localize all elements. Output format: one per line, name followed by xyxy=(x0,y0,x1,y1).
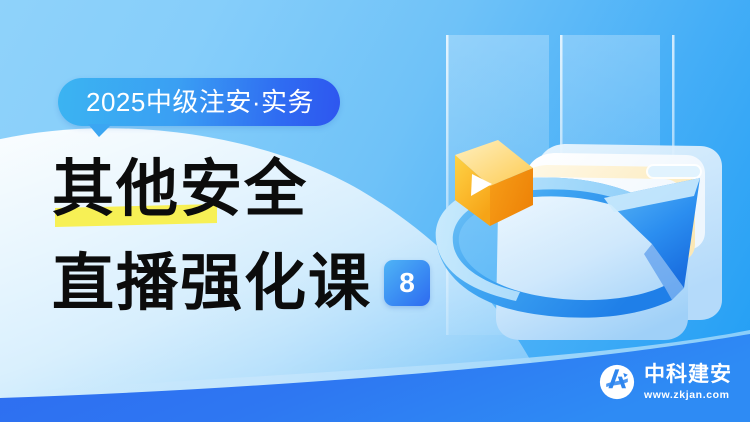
episode-number-badge: 8 xyxy=(384,260,430,306)
course-promo-banner: 2025中级注安·实务 其他安全 直播强化课 8 中科建安 www.zkjan.… xyxy=(0,0,750,422)
headline-line-1-row: 其他安全 xyxy=(52,150,472,228)
brand-logo: 中科建安 www.zkjan.com xyxy=(599,364,732,401)
headline-block: 其他安全 直播强化课 8 xyxy=(52,150,472,322)
headline-line-1: 其他安全 xyxy=(52,158,308,220)
headline-line-2: 直播强化课 xyxy=(52,252,372,314)
brand-name: 中科建安 xyxy=(644,364,732,385)
badge-pill: 2025中级注安·实务 xyxy=(58,78,340,126)
badge-tail-icon xyxy=(88,124,112,137)
brand-url: www.zkjan.com xyxy=(644,390,732,401)
logo-text-block: 中科建安 www.zkjan.com xyxy=(644,364,732,401)
course-category-badge: 2025中级注安·实务 xyxy=(58,78,340,126)
badge-label: 2025中级注安·实务 xyxy=(86,89,314,115)
headline-line-2-row: 直播强化课 8 xyxy=(52,244,472,322)
person-arrow-circle-logo-icon xyxy=(599,364,635,400)
